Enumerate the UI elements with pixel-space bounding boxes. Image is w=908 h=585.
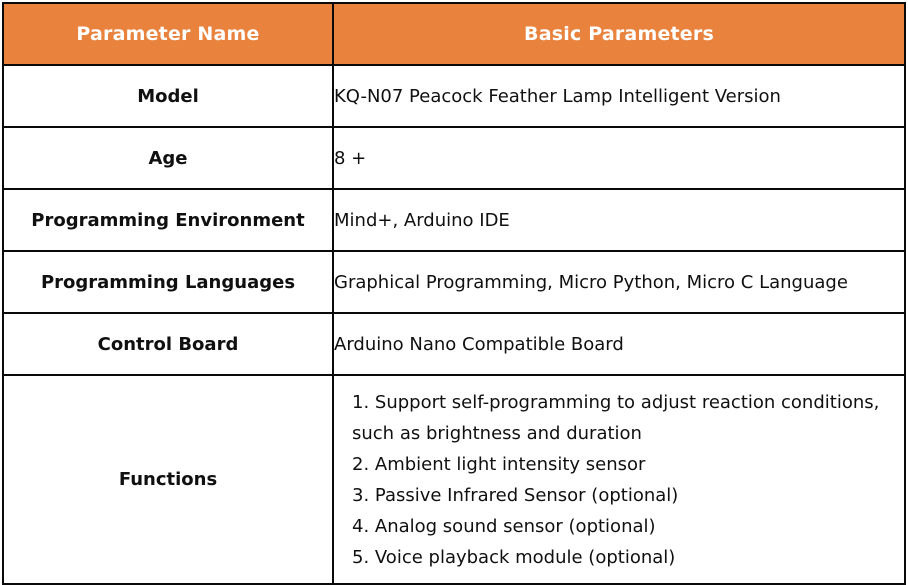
table-row: Programming Languages Graphical Programm… (3, 251, 905, 313)
function-item-text: 3. Passive Infrared Sensor (optional) (352, 485, 678, 506)
row-value-functions: 1. Support self-programming to adjust re… (333, 375, 905, 584)
row-label-control-board: Control Board (3, 313, 333, 375)
functions-list: 1. Support self-programming to adjust re… (352, 387, 898, 573)
spec-table-container: Parameter Name Basic Parameters Model KQ… (0, 0, 908, 576)
row-label-model: Model (3, 65, 333, 127)
list-item: 3. Passive Infrared Sensor (optional) (352, 480, 898, 511)
row-label-programming-languages: Programming Languages (3, 251, 333, 313)
function-item-text: 2. Ambient light intensity sensor (352, 454, 645, 475)
table-header-row: Parameter Name Basic Parameters (3, 3, 905, 65)
function-item-text: 4. Analog sound sensor (optional) (352, 516, 656, 537)
row-label-programming-environment: Programming Environment (3, 189, 333, 251)
row-value-model: KQ-N07 Peacock Feather Lamp Intelligent … (333, 65, 905, 127)
row-value-age: 8 + (333, 127, 905, 189)
table-row: Functions 1. Support self-programming to… (3, 375, 905, 584)
row-value-programming-environment: Mind+, Arduino IDE (333, 189, 905, 251)
header-basic-parameters: Basic Parameters (333, 3, 905, 65)
function-item-text: 1. Support self-programming to adjust re… (352, 392, 879, 444)
list-item: 4. Analog sound sensor (optional) (352, 511, 898, 542)
table-row: Model KQ-N07 Peacock Feather Lamp Intell… (3, 65, 905, 127)
header-parameter-name: Parameter Name (3, 3, 333, 65)
table-row: Age 8 + (3, 127, 905, 189)
list-item: 2. Ambient light intensity sensor (352, 449, 898, 480)
list-item: 1. Support self-programming to adjust re… (352, 387, 898, 449)
table-header: Parameter Name Basic Parameters (3, 3, 905, 65)
function-item-text: 5. Voice playback module (optional) (352, 547, 675, 568)
row-value-programming-languages: Graphical Programming, Micro Python, Mic… (333, 251, 905, 313)
table-row: Programming Environment Mind+, Arduino I… (3, 189, 905, 251)
row-label-age: Age (3, 127, 333, 189)
specifications-table: Parameter Name Basic Parameters Model KQ… (2, 2, 906, 585)
table-body: Model KQ-N07 Peacock Feather Lamp Intell… (3, 65, 905, 584)
row-label-functions: Functions (3, 375, 333, 584)
row-value-control-board: Arduino Nano Compatible Board (333, 313, 905, 375)
list-item: 5. Voice playback module (optional) (352, 542, 898, 573)
table-row: Control Board Arduino Nano Compatible Bo… (3, 313, 905, 375)
